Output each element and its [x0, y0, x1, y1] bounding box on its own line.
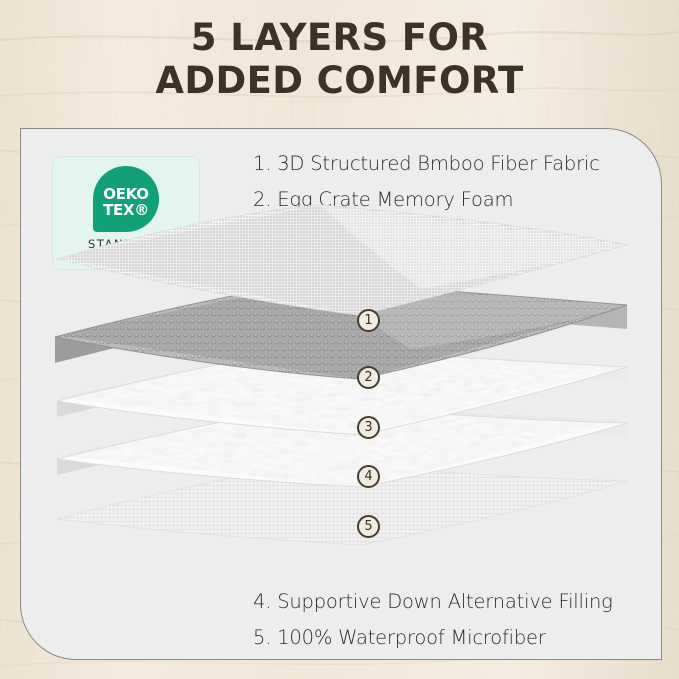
standard-number: 100 — [53, 252, 199, 266]
layer-marker-5[interactable]: 5 — [357, 515, 380, 538]
layer-marker-2[interactable]: 2 — [357, 366, 380, 389]
title-line-2: ADDED COMFORT — [0, 59, 679, 102]
feature-item: 2. Egg Crate Memory Foam — [253, 182, 600, 218]
feature-list-top: 1. 3D Structured Bmboo Fiber Fabric 2. E… — [253, 146, 600, 254]
feature-list-bottom: 4. Supportive Down Alternative Filling 5… — [253, 584, 613, 656]
title-line-1: 5 LAYERS FOR — [0, 16, 679, 59]
feature-item: 4. Supportive Down Alternative Filling — [253, 584, 613, 620]
layer-2-egg-crate-memory-foam — [55, 281, 627, 379]
oeko-tex-badge: OEKO TEX® STANDARD 100 — [52, 156, 200, 270]
layer-5-waterproof-microfiber — [57, 463, 627, 545]
feature-item: 3. Soft Down Alternative Filling — [253, 218, 600, 254]
page-title: 5 LAYERS FOR ADDED COMFORT — [0, 16, 679, 102]
oeko-tex-leaf-icon: OEKO TEX® — [93, 166, 159, 232]
layer-marker-1[interactable]: 1 — [357, 309, 380, 332]
feature-item: 5. 100% Waterproof Microfiber — [253, 620, 613, 656]
layers-info-card: OEKO TEX® STANDARD 100 1. 3D Structured … — [20, 128, 662, 660]
standard-label: STANDARD — [53, 237, 199, 251]
layer-marker-4[interactable]: 4 — [357, 465, 380, 488]
layer-marker-3[interactable]: 3 — [357, 416, 380, 439]
layer-3-soft-down-filling — [21, 329, 661, 445]
layer-4-supportive-down-filling — [21, 389, 661, 499]
feature-item: 1. 3D Structured Bmboo Fiber Fabric — [253, 146, 600, 182]
tex-label: TEX® — [93, 201, 159, 219]
